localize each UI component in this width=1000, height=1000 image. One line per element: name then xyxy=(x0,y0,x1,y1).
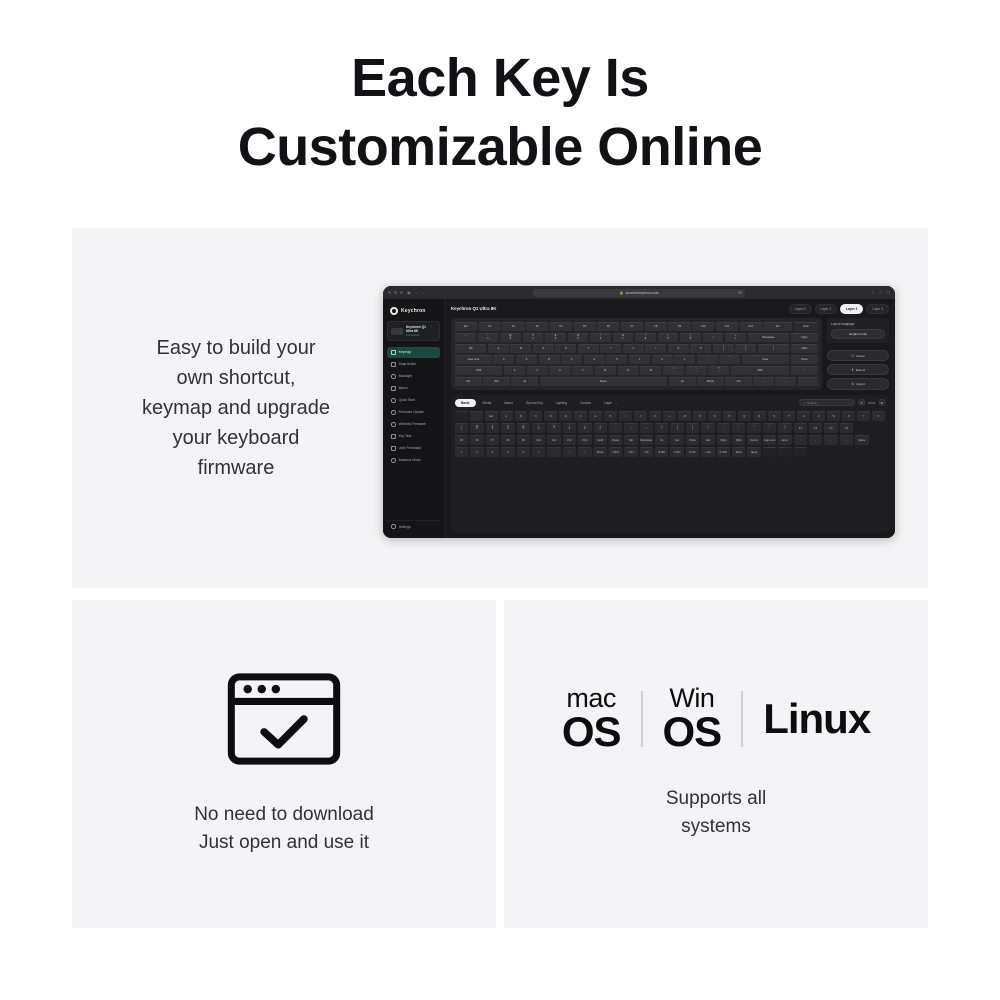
keycode-key[interactable]: 2 xyxy=(470,447,483,457)
keycode-key[interactable]: F xyxy=(574,411,587,421)
layer-tabs: Layer 0 Layer 1 Layer 2 Layer 3 xyxy=(789,304,889,314)
keyboard-key[interactable]: ↓ xyxy=(775,377,795,386)
keyboard-key[interactable]: B xyxy=(595,366,616,375)
os-linux: Linux xyxy=(763,695,870,743)
keycode-key[interactable]: R-Win xyxy=(655,447,668,457)
keycode-key[interactable]: I xyxy=(619,411,632,421)
keychron-logo-icon xyxy=(390,307,398,315)
keyboard-key[interactable]: S xyxy=(516,355,537,364)
keycode-key[interactable]: 5 xyxy=(517,447,530,457)
keycode-key[interactable]: $4 xyxy=(501,423,514,433)
keyboard-row: ShiftZXCVBNM<,>.?/Shift↑ xyxy=(455,366,818,375)
sidebar-item-label: Advance Mode xyxy=(399,458,421,462)
tab-layer-1[interactable]: Layer 1 xyxy=(815,304,838,314)
keycode-key[interactable]: L xyxy=(663,411,676,421)
picker-tools: ⌕ Search ⊖ 100% ⊕ xyxy=(799,399,885,406)
tab-media[interactable]: Media xyxy=(477,399,498,407)
keycode-key[interactable]: U xyxy=(797,411,810,421)
keycode-key[interactable]: >. xyxy=(763,423,776,433)
keycode-key[interactable]: / xyxy=(563,447,576,457)
keycode-key[interactable]: L-Win xyxy=(670,447,683,457)
keycode-key[interactable]: F9 xyxy=(517,435,530,445)
keycode-key[interactable]: End xyxy=(701,435,714,445)
keyboard-key[interactable]: ?/ xyxy=(708,366,729,375)
divider xyxy=(641,691,643,747)
keycode-key[interactable]: S xyxy=(768,411,781,421)
keyboard-key[interactable]: Home xyxy=(791,355,818,364)
keyboard-key[interactable]: F1 xyxy=(479,322,501,331)
key-picker: Basic Media Macro Special Key Lighting C… xyxy=(451,395,889,533)
keyboard-key[interactable]: Shift xyxy=(455,366,502,375)
keyboard-key[interactable]: <, xyxy=(663,366,684,375)
keyboard-row: EscF1F2F3F4F5F6F7F8F9F10F11F12DelKnob xyxy=(455,322,818,331)
keyboard-key[interactable]: F xyxy=(561,355,582,364)
keycode-key[interactable]: PgUp xyxy=(717,435,730,445)
share-icon[interactable]: ⇧ xyxy=(871,291,874,295)
keycode-key[interactable]: N xyxy=(693,411,706,421)
keyboard-key[interactable]: P xyxy=(690,344,711,353)
keycode-key[interactable]: "' xyxy=(732,423,745,433)
keyboard-key[interactable]: F10 xyxy=(692,322,714,331)
keyboard-key[interactable]: >. xyxy=(686,366,707,375)
refresh-icon[interactable] xyxy=(738,291,742,295)
keycode-grid[interactable]: `EscABCDEFGHIJKLMNOPQRSTUVWXYZ!1@2#3$4%5… xyxy=(455,411,885,457)
keycode-key[interactable]: F5 xyxy=(455,435,468,445)
keyboard-key[interactable]: ^6 xyxy=(590,333,611,342)
keyboard-key[interactable]: G xyxy=(584,355,605,364)
keyboard-key[interactable]: Space xyxy=(540,377,668,386)
keycode-key[interactable]: X xyxy=(842,411,855,421)
tab-layer[interactable]: Layer ⌄ xyxy=(598,399,623,407)
keyboard-key[interactable]: ~` xyxy=(455,333,476,342)
caption-line-1: No need to download xyxy=(194,801,374,830)
keyboard-key[interactable]: E xyxy=(533,344,554,353)
device-thumbnail-icon xyxy=(391,328,403,335)
keycode-key[interactable]: R-Shift xyxy=(717,447,730,457)
keycode-key[interactable]: F1 xyxy=(794,423,807,433)
keyboard-key[interactable]: Enter xyxy=(742,355,789,364)
sidebar-item-key-test[interactable]: Key Test xyxy=(387,431,440,442)
keycode-key[interactable]: D xyxy=(544,411,557,421)
keyboard-key[interactable]: |\ xyxy=(758,344,789,353)
keyboard-key[interactable]: :; xyxy=(697,355,718,364)
keyboard-key[interactable]: O xyxy=(668,344,689,353)
app-body: Keychron Keychron Q1 Ultra 8K Connected … xyxy=(383,299,895,538)
keycode-key[interactable]: PgDn xyxy=(732,435,745,445)
browser-title-bar: ▣ ⌄ ‹ 🔒 launcher.keychron.com ⇧ ＋ ❐ xyxy=(383,286,895,299)
tab-layer-2[interactable]: Layer 2 xyxy=(840,304,863,314)
keycode-key[interactable]: F3 xyxy=(824,423,837,433)
main-header: Keychron Q1 Ultra 8K Layer 0 Layer 1 Lay… xyxy=(451,304,889,314)
headline-line-2: Customizable Online xyxy=(0,113,1000,182)
keycode-key[interactable]: ↑ xyxy=(794,435,807,445)
tabs-icon[interactable]: ❐ xyxy=(886,291,890,295)
keyboard-key[interactable]: L xyxy=(674,355,695,364)
keycode-key[interactable]: |\ xyxy=(701,423,714,433)
keycode-key[interactable]: Home xyxy=(686,435,699,445)
keyboard-key[interactable]: Backspace xyxy=(748,333,790,342)
sidebar-item-macro[interactable]: Macro xyxy=(387,383,440,394)
reset-label: Reset xyxy=(856,354,864,358)
import-label: Import xyxy=(856,382,865,386)
keyboard-key[interactable]: %5 xyxy=(568,333,589,342)
keychron-launcher-window: ▣ ⌄ ‹ 🔒 launcher.keychron.com ⇧ ＋ ❐ Keyc… xyxy=(383,286,895,538)
keycode-key[interactable]: Tab xyxy=(624,435,637,445)
keycode-key[interactable]: _- xyxy=(624,423,637,433)
keycode-key[interactable]: Reset xyxy=(594,447,607,457)
keycode-key[interactable]: Enter xyxy=(778,435,791,445)
tab-lighting[interactable]: Lighting xyxy=(550,399,573,407)
app-sidebar: Keychron Keychron Q1 Ultra 8K Connected … xyxy=(383,299,445,538)
keycode-key[interactable]: #3 xyxy=(486,423,499,433)
chevron-down-icon: ⌄ xyxy=(614,401,617,405)
keycode-key[interactable]: F12 xyxy=(563,435,576,445)
keycode-key[interactable]: J xyxy=(634,411,647,421)
layout-language-select[interactable]: English (US) xyxy=(831,329,885,340)
keycode-key[interactable]: %5 xyxy=(517,423,530,433)
hero-line-4: your keyboard xyxy=(173,427,300,449)
keycode-key[interactable]: G xyxy=(589,411,602,421)
keyboard-key[interactable]: Q xyxy=(488,344,509,353)
minimize-icon[interactable] xyxy=(394,291,397,294)
keycode-key[interactable]: * xyxy=(578,447,591,457)
keycode-key[interactable]: - xyxy=(609,423,622,433)
tab-layer-label: Layer xyxy=(604,401,612,405)
keycode-key[interactable] xyxy=(794,447,807,457)
keycode-key[interactable]: &7 xyxy=(547,423,560,433)
keyboard-key[interactable]: ↑ xyxy=(791,366,818,375)
keyboard-key[interactable]: Tab xyxy=(455,344,486,353)
sidebar-item-snap-action[interactable]: Snap Action xyxy=(387,359,440,370)
keyboard-key[interactable]: F5 xyxy=(574,322,596,331)
layout-language-label: Layout language xyxy=(831,322,885,326)
keyboard-key[interactable]: Caps Lock xyxy=(455,355,492,364)
keycode-key[interactable]: F7 xyxy=(486,435,499,445)
keycode-key[interactable]: 1 xyxy=(455,447,468,457)
keycode-key[interactable] xyxy=(455,411,468,421)
keycode-key[interactable]: )0 xyxy=(594,423,607,433)
keyboard-key[interactable]: _- xyxy=(703,333,724,342)
keycode-key[interactable]: T xyxy=(783,411,796,421)
keyboard-key[interactable]: "' xyxy=(719,355,740,364)
keycode-key[interactable]: Del xyxy=(670,435,683,445)
keyboard-key[interactable]: }] xyxy=(735,344,756,353)
keyboard-key[interactable]: H xyxy=(606,355,627,364)
keyboard-key[interactable]: Del xyxy=(763,322,792,331)
reset-button[interactable]: ⟳ Reset xyxy=(827,350,889,361)
keycode-key[interactable]: ^6 xyxy=(532,423,545,433)
keycode-key[interactable]: ` xyxy=(470,411,483,421)
keyboard-key[interactable]: C xyxy=(549,366,570,375)
keycode-key[interactable]: 4 xyxy=(501,447,514,457)
keycode-key[interactable]: H xyxy=(604,411,617,421)
keyboard-key[interactable]: R xyxy=(555,344,576,353)
keyboard-key[interactable]: U xyxy=(623,344,644,353)
keyboard-key[interactable]: N xyxy=(618,366,639,375)
firmware-update-icon xyxy=(391,410,396,415)
hero-line-1: Easy to build your xyxy=(157,337,316,359)
sidebar-nav: Keymap Snap Action Backlight Macro xyxy=(387,347,440,532)
keyboard-key[interactable]: Ctrl xyxy=(725,377,752,386)
page-title: Each Key Is Customizable Online xyxy=(0,0,1000,182)
keyboard-key[interactable]: J xyxy=(629,355,650,364)
keyboard-key[interactable]: (9 xyxy=(658,333,679,342)
keyboard-key[interactable]: V xyxy=(572,366,593,375)
keycode-key[interactable]: F8 xyxy=(501,435,514,445)
keyboard-key[interactable]: Win xyxy=(483,377,510,386)
search-placeholder: Search xyxy=(807,401,817,405)
keycode-key[interactable] xyxy=(778,447,791,457)
keyboard-key[interactable]: PgUp xyxy=(791,333,818,342)
keyboard-key[interactable]: MO(1) xyxy=(697,377,724,386)
card-no-download: No need to download Just open and use it xyxy=(72,600,496,928)
keyboard-key[interactable]: Shift xyxy=(731,366,789,375)
keycode-key[interactable]: → xyxy=(840,435,853,445)
keyboard-key[interactable]: &7 xyxy=(613,333,634,342)
snap-action-icon xyxy=(391,362,396,367)
address-bar-url: launcher.keychron.com xyxy=(626,291,659,295)
os-winos: Win OS xyxy=(663,686,722,750)
close-icon[interactable] xyxy=(388,291,391,294)
keyboard-row: ~`!1@2#3$4%5^6&7*8(9)0_-+=BackspacePgUp xyxy=(455,333,818,342)
keyboard-key[interactable]: F6 xyxy=(597,322,619,331)
keyboard-key[interactable]: A xyxy=(493,355,514,364)
sidebar-item-user-feedback[interactable]: User Feedback xyxy=(387,443,440,454)
tab-layer-3[interactable]: Layer 3 xyxy=(866,304,889,314)
keycode-key[interactable]: LAlt xyxy=(640,447,653,457)
keycode-key[interactable]: ?/ xyxy=(778,423,791,433)
keycode-key[interactable]: L-Alt xyxy=(701,447,714,457)
headline-line-1: Each Key Is xyxy=(351,48,649,108)
keyboard-key[interactable]: $4 xyxy=(545,333,566,342)
keyboard-key[interactable]: D xyxy=(539,355,560,364)
tab-basic[interactable]: Basic xyxy=(455,399,476,407)
zoom-in-icon[interactable]: ⊕ xyxy=(879,399,886,406)
backlight-icon xyxy=(391,374,396,379)
keycode-key[interactable]: Menu xyxy=(732,447,745,457)
keycode-key[interactable]: ← xyxy=(824,435,837,445)
keycode-key[interactable]: Print xyxy=(578,435,591,445)
keycode-key[interactable]: 3 xyxy=(486,447,499,457)
keyboard-key[interactable]: F3 xyxy=(526,322,548,331)
device-meta: Keychron Q1 Ultra 8K Connected xyxy=(406,325,430,337)
card-caption: No need to download Just open and use it xyxy=(194,801,374,858)
device-selector[interactable]: Keychron Q1 Ultra 8K Connected ⌄ xyxy=(387,321,440,341)
keycode-key[interactable]: V xyxy=(812,411,825,421)
keycode-key[interactable]: R xyxy=(753,411,766,421)
keyboard-key[interactable]: X xyxy=(527,366,548,375)
keyboard-key[interactable]: Knob xyxy=(794,322,818,331)
keycode-key[interactable]: B xyxy=(515,411,528,421)
keyboard-key[interactable]: K xyxy=(652,355,673,364)
lock-icon: 🔒 xyxy=(620,291,624,295)
keycode-key[interactable] xyxy=(763,447,776,457)
sidebar-item-wireless-firmware[interactable]: Wireless Firmware xyxy=(387,419,440,430)
keycode-key[interactable]: (9 xyxy=(578,423,591,433)
keycode-key[interactable]: F10 xyxy=(532,435,545,445)
keyboard-key[interactable]: F9 xyxy=(668,322,690,331)
card-supports-all-systems: mac OS Win OS Linux Supports all systems xyxy=(504,600,928,928)
sidebar-item-advance-mode[interactable]: Advance Mode xyxy=(387,455,440,466)
keycode-key[interactable]: P xyxy=(723,411,736,421)
tab-layer-0[interactable]: Layer 0 xyxy=(789,304,812,314)
keyboard-key[interactable]: F12 xyxy=(740,322,762,331)
keycode-key[interactable]: F6 xyxy=(470,435,483,445)
keycode-key[interactable]: !1 xyxy=(455,423,468,433)
device-status-badge: Connected xyxy=(406,334,419,337)
keyboard-key[interactable]: *8 xyxy=(635,333,656,342)
keycode-key[interactable]: = xyxy=(640,423,653,433)
keyboard-key[interactable]: F2 xyxy=(502,322,524,331)
sidebar-item-label: Backlight xyxy=(399,374,412,378)
keycode-key[interactable]: F4 xyxy=(840,423,853,433)
keyboard-preview[interactable]: EscF1F2F3F4F5F6F7F8F9F10F11F12DelKnob~`!… xyxy=(451,318,822,390)
keycode-key[interactable]: {[ xyxy=(670,423,683,433)
caption-line-2: systems xyxy=(666,813,766,842)
tab-custom[interactable]: Custom xyxy=(574,399,597,407)
keycode-key[interactable]: <, xyxy=(747,423,760,433)
sidebar-item-label: Settings xyxy=(399,525,411,529)
keycode-key[interactable]: E xyxy=(559,411,572,421)
keycode-key[interactable]: K xyxy=(649,411,662,421)
wireless-firmware-icon xyxy=(391,422,396,427)
layout-language-box: Layout language English (US) xyxy=(827,318,889,344)
keycode-key[interactable]: - xyxy=(547,447,560,457)
keycode-key[interactable]: Z xyxy=(872,411,885,421)
os-logos: mac OS Win OS Linux xyxy=(562,686,870,750)
promo-page: Each Key Is Customizable Online Easy to … xyxy=(0,0,1000,1000)
keycode-key[interactable]: F2 xyxy=(809,423,822,433)
keycode-key[interactable]: }] xyxy=(686,423,699,433)
keycode-key[interactable]: @2 xyxy=(470,423,483,433)
export-icon: ⬆ xyxy=(851,368,854,372)
keymap-icon xyxy=(391,350,396,355)
keyboard-key[interactable]: Alt xyxy=(669,377,696,386)
search-input[interactable]: ⌕ Search xyxy=(799,399,855,406)
sidebar-item-label: Snap Action xyxy=(399,362,417,366)
keyboard-key[interactable]: M xyxy=(640,366,661,375)
tab-special-key[interactable]: Special Key xyxy=(520,399,549,407)
keycode-key[interactable]: Scroll xyxy=(594,435,607,445)
brand-name: Keychron xyxy=(401,308,426,314)
keycode-row: F5F6F7F8F9F10F11F12PrintScrollPauseTabBa… xyxy=(455,435,885,445)
keyboard-row: CtrlWinAltSpaceAltMO(1)Ctrl←↓→ xyxy=(455,377,818,386)
chevron-down-icon[interactable]: ⌄ xyxy=(415,291,418,295)
keycode-key[interactable]: NumLk xyxy=(747,435,760,445)
keyboard-key[interactable]: Z xyxy=(504,366,525,375)
keyboard-title: Keychron Q1 Ultra 8K xyxy=(451,306,496,311)
sidebar-item-firmware-update[interactable]: Firmware Update xyxy=(387,407,440,418)
chevron-down-icon[interactable]: ⌄ xyxy=(433,329,436,333)
keycode-key[interactable]: Q xyxy=(738,411,751,421)
keyboard-key[interactable]: F8 xyxy=(645,322,667,331)
keycode-key[interactable]: Backspace xyxy=(640,435,653,445)
keycode-key[interactable]: R-Ctrl xyxy=(686,447,699,457)
caption-line-2: Just open and use it xyxy=(194,829,374,858)
browser-toolbar-right: ⇧ ＋ ❐ xyxy=(871,291,890,295)
keycode-key[interactable]: LCtrl xyxy=(624,447,637,457)
keycode-key[interactable]: Ins xyxy=(655,435,668,445)
keycode-key[interactable]: ↓ xyxy=(809,435,822,445)
keycode-key[interactable]: Caps Lock xyxy=(763,435,776,445)
keyboard-key[interactable]: T xyxy=(578,344,599,353)
sidebar-item-label: Quick Start xyxy=(399,398,415,402)
chevron-left-icon[interactable]: ‹ xyxy=(422,291,423,295)
keyboard-key[interactable]: → xyxy=(798,377,818,386)
keycode-key[interactable]: W xyxy=(827,411,840,421)
window-traffic-lights[interactable] xyxy=(388,291,403,294)
keycode-key[interactable]: LShift xyxy=(609,447,622,457)
tab-macro[interactable]: Macro xyxy=(498,399,519,407)
sidebar-icon[interactable]: ▣ xyxy=(407,291,411,295)
keycode-key[interactable]: :; xyxy=(717,423,730,433)
keyboard-key[interactable]: {[ xyxy=(713,344,734,353)
keyboard-key[interactable]: !1 xyxy=(478,333,499,342)
keycode-key[interactable]: M xyxy=(678,411,691,421)
import-icon: ⬇ xyxy=(851,382,854,386)
maximize-icon[interactable] xyxy=(400,291,403,294)
keyboard-key[interactable]: Y xyxy=(600,344,621,353)
keyboard-key[interactable]: I xyxy=(645,344,666,353)
sidebar-item-backlight[interactable]: Backlight xyxy=(387,371,440,382)
os-winos-suffix: OS xyxy=(663,712,722,751)
divider xyxy=(741,691,743,747)
keyboard-key[interactable]: PgDn xyxy=(791,344,818,353)
keycode-row: 12345+-/*ResetLShiftLCtrlLAltR-WinL-WinR… xyxy=(455,447,885,457)
keyboard-key[interactable]: F7 xyxy=(621,322,643,331)
address-bar[interactable]: 🔒 launcher.keychron.com xyxy=(533,289,745,297)
keycode-key[interactable]: Sleep xyxy=(747,447,760,457)
keycode-key[interactable]: Pause xyxy=(609,435,622,445)
keyboard-key[interactable]: Ctrl xyxy=(455,377,482,386)
keyboard-key[interactable]: F11 xyxy=(716,322,738,331)
keycode-row: `EscABCDEFGHIJKLMNOPQRSTUVWXYZ xyxy=(455,411,885,421)
keycode-key[interactable]: O xyxy=(708,411,721,421)
keycode-key[interactable]: C xyxy=(529,411,542,421)
keyboard-key[interactable]: += xyxy=(725,333,746,342)
keycode-key[interactable]: Esc xyxy=(485,411,498,421)
import-button[interactable]: ⬇ Import xyxy=(827,378,889,389)
reset-icon: ⟳ xyxy=(852,354,855,358)
keyboard-key[interactable]: Esc xyxy=(455,322,477,331)
sidebar-item-quick-start[interactable]: Quick Start xyxy=(387,395,440,406)
hero-line-5: firmware xyxy=(198,457,275,479)
sidebar-item-label: User Feedback xyxy=(399,446,421,450)
keyboard-key[interactable]: )0 xyxy=(680,333,701,342)
keycode-key[interactable]: Space xyxy=(855,435,868,445)
keycode-key[interactable]: *8 xyxy=(563,423,576,433)
keyboard-key[interactable]: W xyxy=(510,344,531,353)
keycode-key[interactable]: Y xyxy=(857,411,870,421)
keycode-key[interactable]: + xyxy=(532,447,545,457)
keycode-key[interactable]: += xyxy=(655,423,668,433)
keyboard-key[interactable]: ← xyxy=(753,377,773,386)
user-feedback-icon xyxy=(391,446,396,451)
keyboard-key[interactable]: @2 xyxy=(500,333,521,342)
zoom-out-icon[interactable]: ⊖ xyxy=(858,399,865,406)
app-main: Keychron Q1 Ultra 8K Layer 0 Layer 1 Lay… xyxy=(445,299,895,538)
keycode-key[interactable]: A xyxy=(500,411,513,421)
gear-icon xyxy=(391,524,396,529)
keyboard-key[interactable]: #3 xyxy=(523,333,544,342)
sidebar-item-settings[interactable]: Settings xyxy=(387,520,440,532)
sidebar-item-keymap[interactable]: Keymap xyxy=(387,347,440,358)
export-button[interactable]: ⬆ Export xyxy=(827,364,889,375)
keycode-key[interactable]: F11 xyxy=(547,435,560,445)
keyboard-key[interactable]: Alt xyxy=(511,377,538,386)
plus-icon[interactable]: ＋ xyxy=(878,291,882,295)
keyboard-key[interactable]: F4 xyxy=(550,322,572,331)
